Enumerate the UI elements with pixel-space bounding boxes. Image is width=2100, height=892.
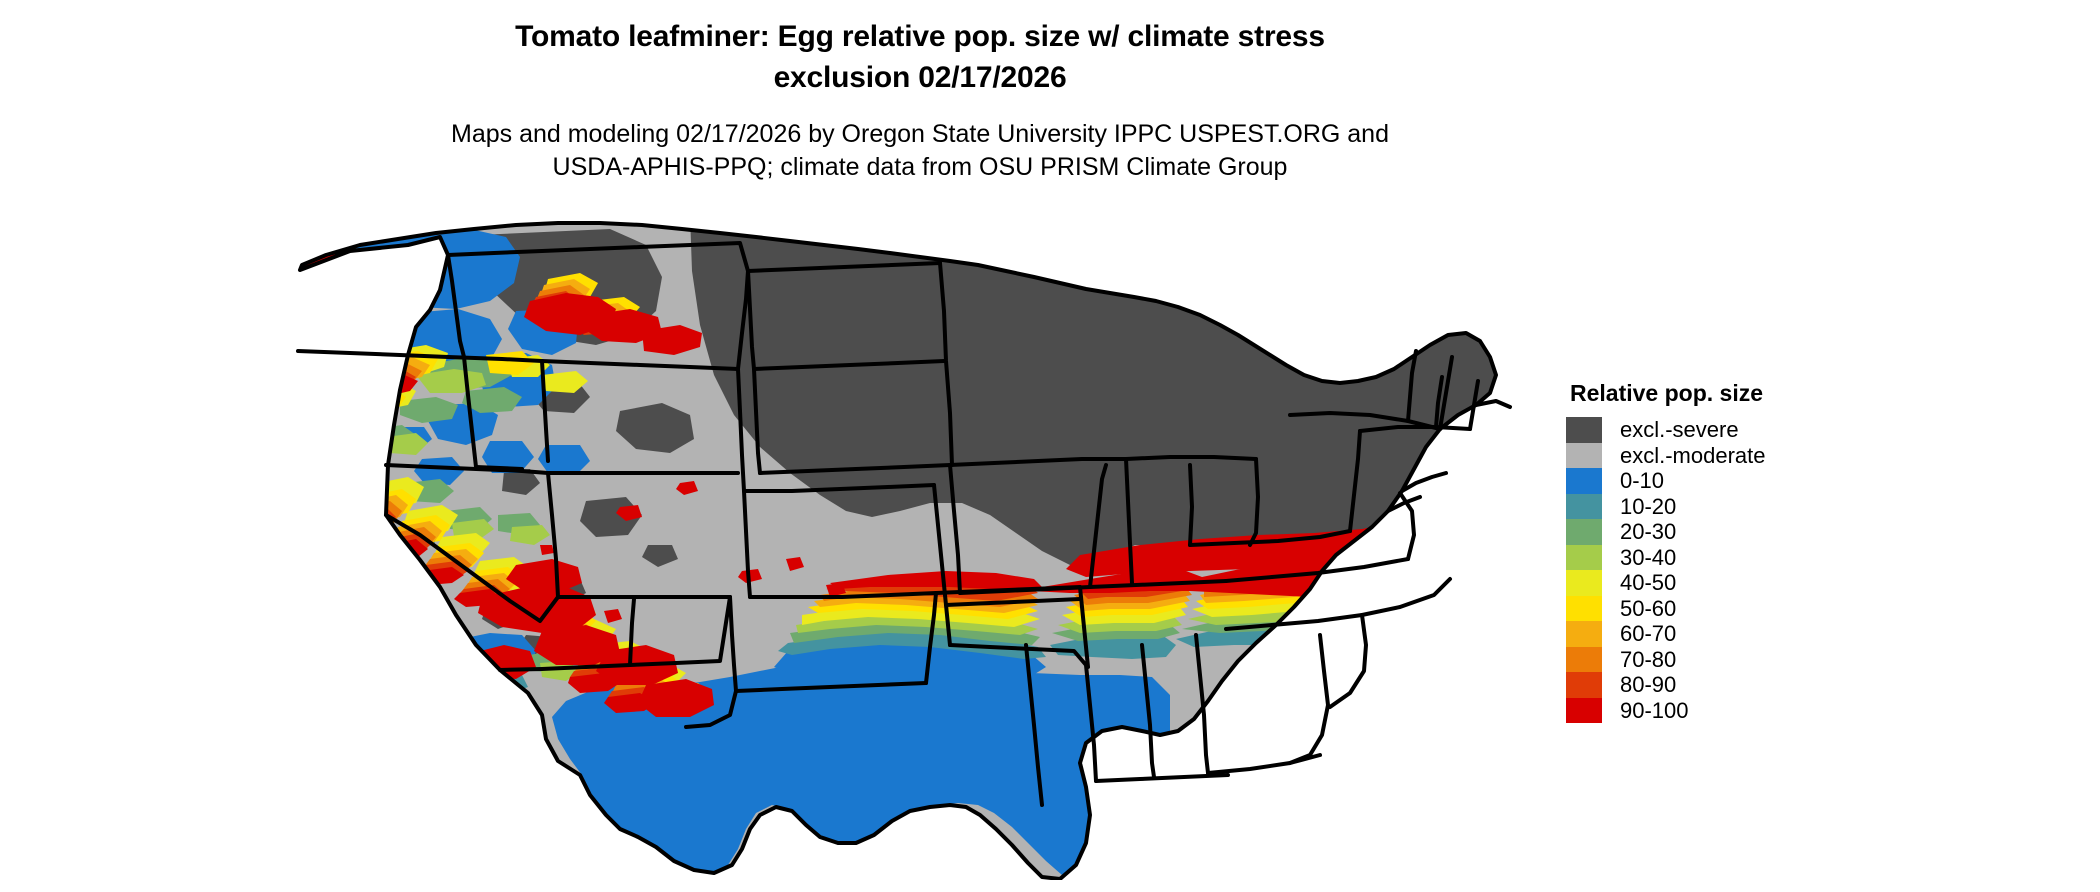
- title-line-1: Tomato leafminer: Egg relative pop. size…: [0, 16, 1840, 57]
- page-title: Tomato leafminer: Egg relative pop. size…: [0, 16, 1840, 98]
- title-line-2: exclusion 02/17/2026: [0, 57, 1840, 98]
- legend-label-excl-severe: excl.-severe: [1620, 417, 1739, 443]
- page-subtitle: Maps and modeling 02/17/2026 by Oregon S…: [0, 118, 1840, 184]
- legend-item-excl-moderate[interactable]: excl.-moderate: [1566, 443, 1896, 469]
- legend-swatch-90-100: [1566, 698, 1602, 724]
- legend-item-40-50[interactable]: 40-50: [1566, 570, 1896, 596]
- map-legend: Relative pop. size excl.-severe excl.-mo…: [1566, 380, 1896, 723]
- legend-swatch-excl-moderate: [1566, 443, 1602, 469]
- legend-title: Relative pop. size: [1570, 380, 1896, 407]
- legend-label-30-40: 30-40: [1620, 545, 1676, 571]
- map-canvas: [290, 215, 1540, 880]
- legend-item-80-90[interactable]: 80-90: [1566, 672, 1896, 698]
- legend-item-20-30[interactable]: 20-30: [1566, 519, 1896, 545]
- legend-label-20-30: 20-30: [1620, 519, 1676, 545]
- us-choropleth-map: [290, 215, 1540, 880]
- legend-item-10-20[interactable]: 10-20: [1566, 494, 1896, 520]
- legend-item-30-40[interactable]: 30-40: [1566, 545, 1896, 571]
- legend-label-80-90: 80-90: [1620, 672, 1676, 698]
- legend-swatch-40-50: [1566, 570, 1602, 596]
- legend-label-0-10: 0-10: [1620, 468, 1664, 494]
- legend-swatch-excl-severe: [1566, 417, 1602, 443]
- legend-label-10-20: 10-20: [1620, 494, 1676, 520]
- legend-swatch-60-70: [1566, 621, 1602, 647]
- legend-item-50-60[interactable]: 50-60: [1566, 596, 1896, 622]
- subtitle-line-2: USDA-APHIS-PPQ; climate data from OSU PR…: [0, 151, 1840, 184]
- legend-item-0-10[interactable]: 0-10: [1566, 468, 1896, 494]
- legend-swatch-70-80: [1566, 647, 1602, 673]
- map-page: Tomato leafminer: Egg relative pop. size…: [0, 0, 2100, 892]
- legend-items: excl.-severe excl.-moderate 0-10 10-20 2…: [1566, 417, 1896, 723]
- legend-label-90-100: 90-100: [1620, 698, 1689, 724]
- legend-swatch-30-40: [1566, 545, 1602, 571]
- subtitle-line-1: Maps and modeling 02/17/2026 by Oregon S…: [0, 118, 1840, 151]
- legend-item-90-100[interactable]: 90-100: [1566, 698, 1896, 724]
- legend-swatch-20-30: [1566, 519, 1602, 545]
- legend-label-40-50: 40-50: [1620, 570, 1676, 596]
- map-raster-layer: [290, 215, 1540, 880]
- legend-label-50-60: 50-60: [1620, 596, 1676, 622]
- legend-label-excl-moderate: excl.-moderate: [1620, 443, 1766, 469]
- legend-swatch-10-20: [1566, 494, 1602, 520]
- legend-item-excl-severe[interactable]: excl.-severe: [1566, 417, 1896, 443]
- legend-label-60-70: 60-70: [1620, 621, 1676, 647]
- legend-swatch-0-10: [1566, 468, 1602, 494]
- legend-swatch-80-90: [1566, 672, 1602, 698]
- legend-swatch-50-60: [1566, 596, 1602, 622]
- legend-item-70-80[interactable]: 70-80: [1566, 647, 1896, 673]
- legend-label-70-80: 70-80: [1620, 647, 1676, 673]
- legend-item-60-70[interactable]: 60-70: [1566, 621, 1896, 647]
